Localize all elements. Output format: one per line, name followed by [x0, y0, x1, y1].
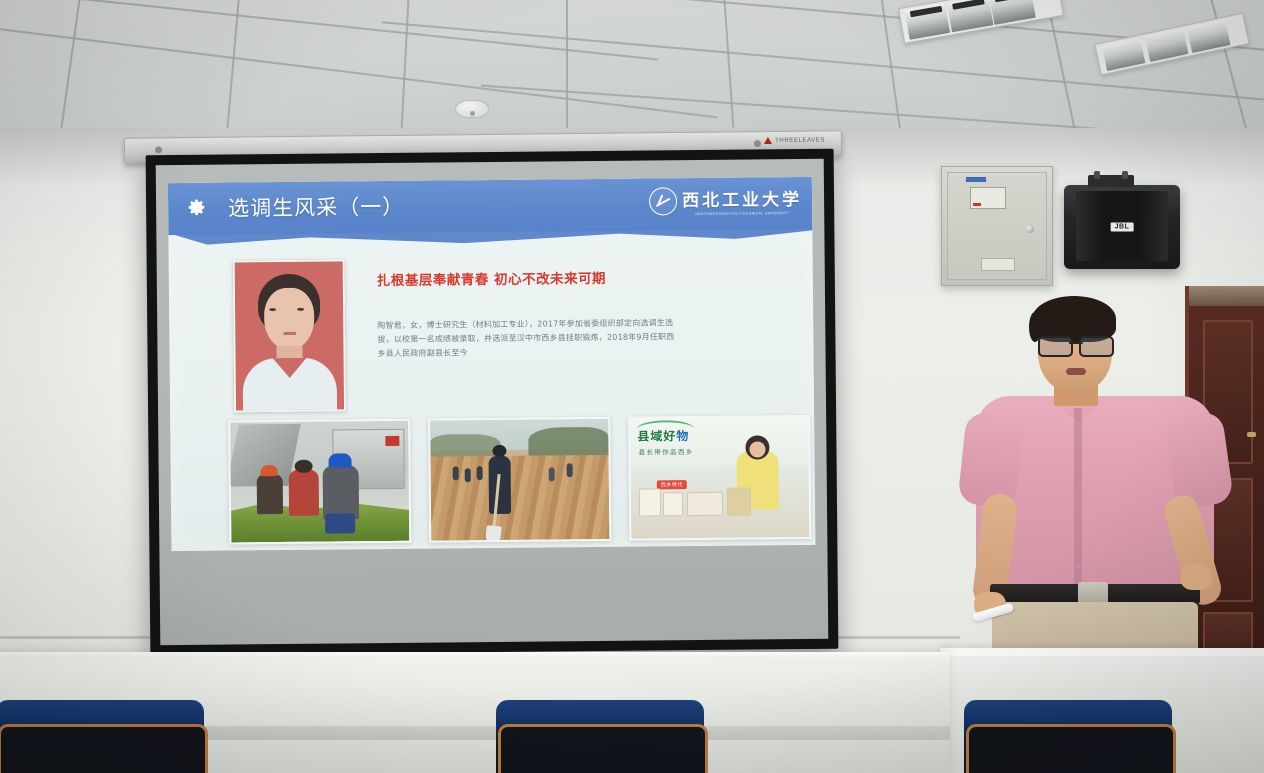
cabinet-label-sticker [966, 177, 986, 182]
gear-icon [182, 194, 208, 220]
university-name-en: NORTHWESTERN POLYTECHNICAL UNIVERSITY [682, 211, 802, 216]
jbl-logo: JBL [1111, 223, 1134, 232]
projection-screen: 选调生风采（一） 西北工业大学 NORTHWESTERN POLYTECHNIC… [146, 149, 839, 656]
slide-header: 选调生风采（一） 西北工业大学 NORTHWESTERN POLYTECHNIC… [168, 177, 812, 235]
photo-tree-planting [428, 417, 611, 543]
cabinet-lock-icon[interactable] [1026, 225, 1034, 233]
slide-title: 选调生风采（一） [228, 191, 404, 223]
eyeglasses-icon [1038, 336, 1114, 353]
photo-livestream: 县域好物 县长带你品西乡 西乡特代 [628, 415, 811, 541]
slide-bio-text: 陶智君，女，博士研究生（材料加工专业），2017年参加省委组织部定向选调生选拔，… [377, 316, 677, 361]
cabinet-nameplate [981, 258, 1015, 271]
smoke-detector-icon [455, 100, 489, 118]
livestream-badge: 西乡特代 [657, 480, 687, 489]
student-chair[interactable] [496, 700, 704, 773]
presenter [962, 296, 1228, 668]
university-logo: 西北工业大学 NORTHWESTERN POLYTECHNICAL UNIVER… [649, 185, 802, 216]
electrical-cabinet[interactable] [941, 166, 1053, 286]
photo-tea-inspection [228, 419, 411, 545]
student-chair[interactable] [964, 700, 1172, 773]
slide-headline: 扎根基层奉献青春 初心不改未来可期 [377, 267, 606, 289]
cabinet-meter [970, 187, 1006, 209]
slide-body: 扎根基层奉献青春 初心不改未来可期 陶智君，女，博士研究生（材料加工专业），20… [168, 229, 815, 551]
student-chair[interactable] [0, 700, 204, 773]
door-handle-icon[interactable] [1247, 432, 1256, 437]
jbl-speaker: JBL [1064, 185, 1180, 269]
screen-brand: THREELEAVES [764, 136, 825, 144]
livestream-banner-title: 县域好物 [637, 427, 689, 444]
classroom-scene: THREELEAVES 选调生风采（一） 西北工业大学 NO [0, 0, 1264, 773]
screen-surface: 选调生风采（一） 西北工业大学 NORTHWESTERN POLYTECHNIC… [156, 159, 829, 645]
presentation-slide: 选调生风采（一） 西北工业大学 NORTHWESTERN POLYTECHNIC… [168, 177, 816, 551]
ceiling-light [898, 0, 1064, 44]
university-emblem-icon [649, 187, 677, 215]
threeleaves-logo-icon [764, 137, 772, 144]
livestream-banner-subtitle: 县长带你品西乡 [638, 446, 693, 457]
slide-photo-row: 县域好物 县长带你品西乡 西乡特代 [228, 415, 811, 545]
university-name-cn: 西北工业大学 [682, 190, 802, 211]
portrait-photo [233, 259, 346, 412]
ceiling [0, 0, 1264, 132]
ceiling-light-secondary [1094, 13, 1249, 76]
